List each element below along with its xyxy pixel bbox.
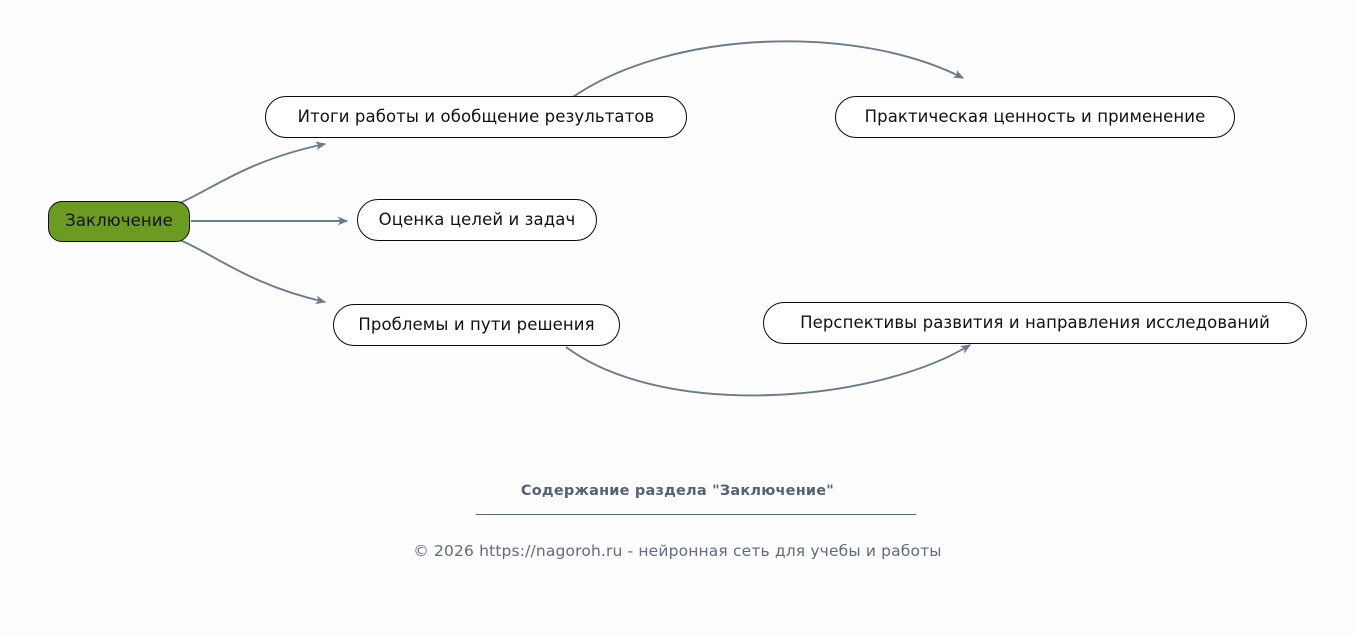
node-prakticheskaya-cennost-label: Практическая ценность и применение xyxy=(865,109,1206,126)
edge-root-to-itogi xyxy=(180,144,325,203)
node-problemy-puti-resheniya[interactable]: Проблемы и пути решения xyxy=(333,304,620,346)
edge-root-to-problemy xyxy=(180,240,325,302)
node-itogi-raboty[interactable]: Итоги работы и обобщение результатов xyxy=(265,96,687,138)
diagram-caption: Содержание раздела "Заключение" xyxy=(0,483,1355,499)
node-prakticheskaya-cennost[interactable]: Практическая ценность и применение xyxy=(835,96,1235,138)
node-problemy-puti-resheniya-label: Проблемы и пути решения xyxy=(358,317,594,334)
diagram-caption-text: Содержание раздела "Заключение" xyxy=(521,483,834,499)
footer-credit-text: © 2026 https://nagoroh.ru - нейронная се… xyxy=(413,542,941,560)
diagram-canvas: Заключение Итоги работы и обобщение резу… xyxy=(0,0,1355,636)
node-ocenka-celey-label: Оценка целей и задач xyxy=(379,212,576,229)
node-root-zaklyuchenie[interactable]: Заключение xyxy=(48,201,190,242)
caption-divider xyxy=(476,514,916,515)
node-perspektivy-razvitiya[interactable]: Перспективы развития и направления иссле… xyxy=(763,302,1307,344)
edge-itogi-to-prakticheskaya xyxy=(573,41,963,97)
node-ocenka-celey[interactable]: Оценка целей и задач xyxy=(357,199,597,241)
node-root-label: Заключение xyxy=(65,213,173,230)
edge-problemy-to-perspektivy xyxy=(566,345,970,395)
node-perspektivy-razvitiya-label: Перспективы развития и направления иссле… xyxy=(800,315,1270,332)
footer-credit: © 2026 https://nagoroh.ru - нейронная се… xyxy=(0,542,1355,560)
node-itogi-raboty-label: Итоги работы и обобщение результатов xyxy=(298,109,655,126)
